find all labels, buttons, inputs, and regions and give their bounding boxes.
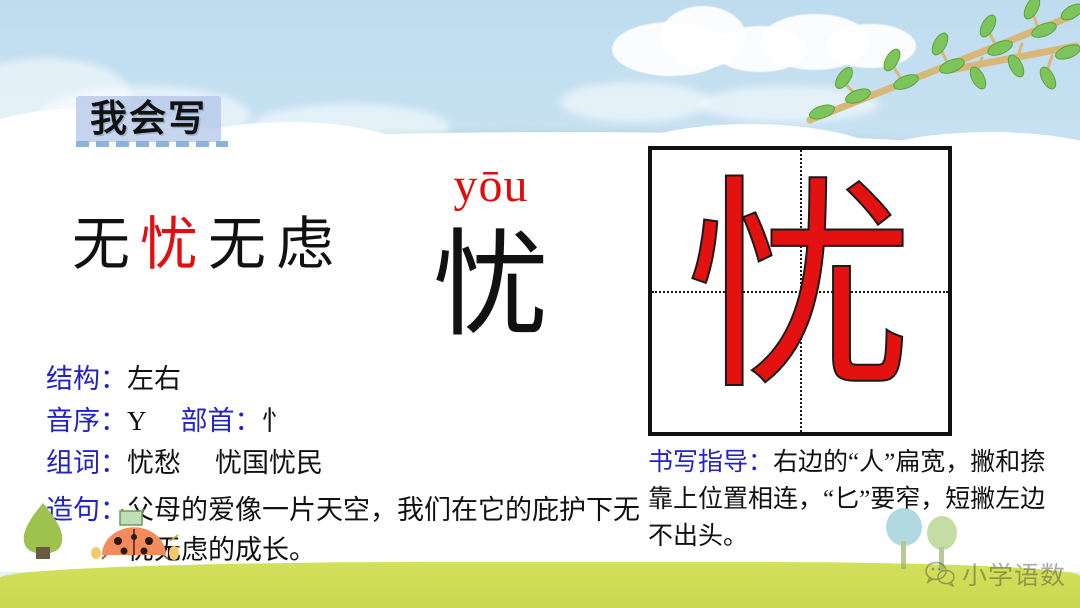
display-character: 忧 bbox=[396, 218, 586, 356]
word-item-2: 忧国忧民 bbox=[215, 442, 323, 484]
idiom-highlight-char: 忧 bbox=[140, 212, 208, 277]
guidance-label: 书写指导： bbox=[648, 449, 773, 476]
character-info-list: 结构： 左右 音序： Y 部首： 忄 组词： 忧愁 忧国忧民 bbox=[46, 358, 626, 484]
ladybug-decoration bbox=[86, 507, 182, 572]
grid-character: 忧 bbox=[652, 150, 948, 432]
character-practice-grid: 忧 bbox=[648, 146, 952, 436]
structure-value: 左右 bbox=[127, 358, 181, 400]
idiom-prefix: 无 bbox=[72, 212, 140, 277]
title-underline-dashes bbox=[76, 141, 228, 147]
word-item-1: 忧愁 bbox=[127, 442, 181, 484]
sentence-text: 父母的爱像一片天空，我们在它的庇护下无忧无虑的成长。 bbox=[127, 490, 646, 570]
initial-label: 音序： bbox=[46, 400, 127, 442]
pinyin-reading: yōu bbox=[396, 160, 586, 212]
wechat-watermark: 小学语数 bbox=[925, 556, 1066, 592]
info-row-initial: 音序： Y 部首： 忄 bbox=[46, 400, 626, 442]
slide-canvas: 我会写 无忧无虑 yōu 忧 结构： 左右 音序： Y 部首： 忄 组词： 忧愁… bbox=[0, 0, 1080, 608]
radical-label: 部首： bbox=[181, 400, 262, 442]
wechat-icon bbox=[925, 561, 955, 587]
info-row-structure: 结构： 左右 bbox=[46, 358, 626, 400]
watermark-text: 小学语数 bbox=[962, 556, 1066, 592]
words-label: 组词： bbox=[46, 442, 127, 484]
structure-label: 结构： bbox=[46, 358, 127, 400]
radical-value: 忄 bbox=[262, 400, 289, 442]
section-title: 我会写 bbox=[76, 96, 221, 142]
info-row-words: 组词： 忧愁 忧国忧民 bbox=[46, 442, 626, 484]
writing-guidance-block: 书写指导：右边的“人”扁宽，撇和捺靠上位置相连，“匕”要窄，短撇左边不出头。 bbox=[648, 444, 1068, 555]
idiom-suffix: 无虑 bbox=[208, 212, 344, 277]
initial-value: Y bbox=[127, 400, 147, 442]
tree-decoration bbox=[10, 501, 76, 570]
page-title: 我会写 bbox=[90, 98, 207, 139]
idiom-phrase: 无忧无虑 bbox=[72, 212, 344, 278]
